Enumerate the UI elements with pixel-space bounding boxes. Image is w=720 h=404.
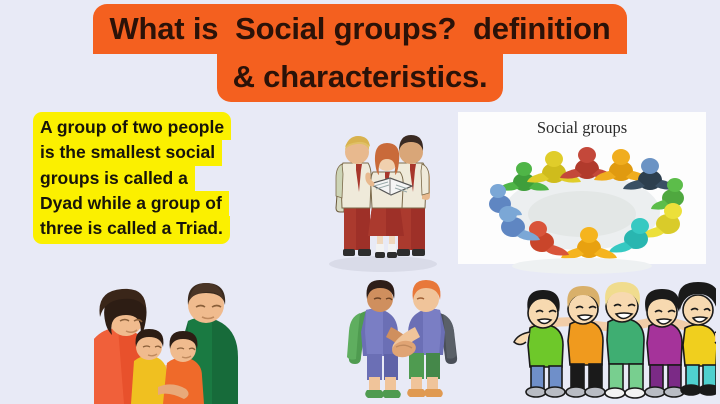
three-students-reading-book-illustration — [312, 106, 454, 274]
definition-line: three is called a Triad. — [33, 216, 293, 244]
definition-line: groups is called a — [33, 166, 293, 191]
definition-line: A group of two people — [33, 112, 293, 140]
definition-line: is the smallest social — [33, 140, 293, 165]
title-line-1: What is Social groups? definition — [0, 4, 720, 54]
title-line-2: & characteristics. — [0, 54, 720, 102]
five-friends-arms-around-shoulders-illustration — [508, 280, 716, 402]
definition-line: Dyad while a group of — [33, 191, 293, 216]
social-groups-image-card: Social groups — [458, 112, 706, 264]
family-of-four-illustration — [76, 277, 261, 404]
definition-text-box: A group of two people is the smallest so… — [33, 112, 293, 244]
two-boys-shaking-hands-illustration — [336, 277, 474, 404]
page-title: What is Social groups? definition & char… — [0, 4, 720, 102]
slide-canvas: What is Social groups? definition & char… — [0, 0, 720, 404]
circle-image-caption: Social groups — [458, 118, 706, 138]
